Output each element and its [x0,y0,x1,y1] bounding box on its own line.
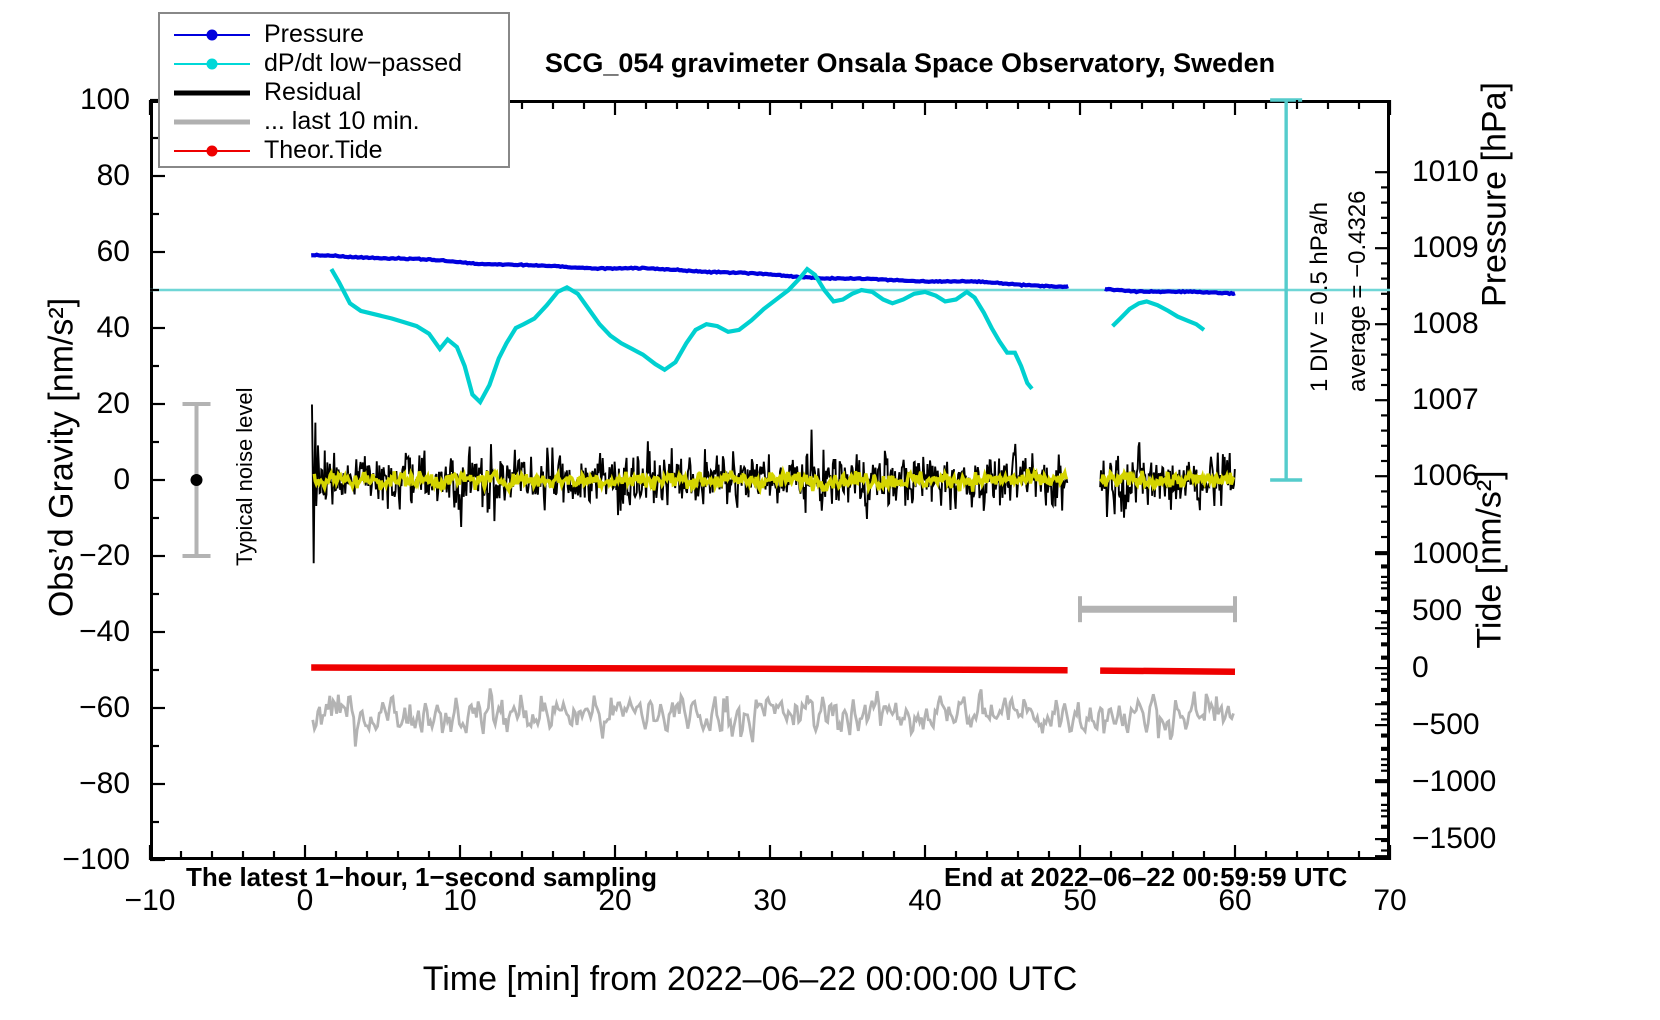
y-tick-label-left: −60 [30,691,130,725]
y-tick-label-tide: −500 [1412,708,1480,742]
annotation-typical-noise-level: Typical noise level [232,387,258,566]
legend-item: Theor.Tide [160,136,508,165]
data-overlay [150,100,1390,860]
legend-marker-dot [207,145,218,156]
y-tick-label-tide: 0 [1412,651,1429,685]
chart-title: SCG_054 gravimeter Onsala Space Observat… [430,48,1390,79]
footer-right-text: End at 2022–06–22 00:59:59 UTC [944,862,1347,893]
legend-item-label: Theor.Tide [264,138,383,163]
legend-item-label: ... last 10 min. [264,109,420,134]
x-tick-label: −10 [125,884,176,918]
y-tick-label-tide: −1000 [1412,765,1496,799]
legend-marker-dot [207,58,218,69]
legend-swatch-4 [174,141,250,161]
legend-swatch-2 [174,83,250,103]
y-tick-label-left: −100 [30,843,130,877]
y-tick-label-pressure: 1006 [1412,459,1479,493]
figure-canvas: SCG_054 gravimeter Onsala Space Observat… [0,0,1660,1020]
legend-item: ... last 10 min. [160,107,508,136]
y-tick-label-left: −40 [30,615,130,649]
legend-item-label: dP/dt low−passed [264,51,462,76]
legend-item-label: Pressure [264,22,364,47]
y-tick-label-pressure: 1007 [1412,383,1479,417]
legend-swatch-3 [174,112,250,132]
y-tick-label-pressure: 1009 [1412,231,1479,265]
legend-swatch-1 [174,54,250,74]
footer-left-text: The latest 1−hour, 1−second sampling [186,862,657,893]
legend-item: Pressure [160,20,508,49]
legend-swatch-0 [174,25,250,45]
annotation-dpdt-div: 1 DIV = 0.5 hPa/h [1306,202,1334,392]
y-tick-label-left: 0 [30,463,130,497]
y-tick-label-pressure: 1010 [1412,155,1479,189]
y-tick-label-pressure: 1008 [1412,307,1479,341]
y-tick-label-tide: −1500 [1412,822,1496,856]
y-tick-label-left: 40 [30,311,130,345]
y-tick-label-left: −80 [30,767,130,801]
y-tick-label-tide: 500 [1412,594,1462,628]
legend-marker-dot [207,29,218,40]
x-tick-label: 30 [753,884,786,918]
annotation-dpdt-average: average = −0.4326 [1344,190,1372,392]
x-axis-label: Time [min] from 2022–06–22 00:00:00 UTC [160,960,1340,999]
y-tick-label-left: 80 [30,159,130,193]
x-tick-label: 40 [908,884,941,918]
x-tick-label: 70 [1373,884,1406,918]
legend-item: Residual [160,78,508,107]
plot-area [150,100,1390,860]
y-tick-label-left: 100 [30,83,130,117]
legend-box: PressuredP/dt low−passedResidual... last… [158,12,510,168]
y-tick-label-left: 20 [30,387,130,421]
legend-item-label: Residual [264,80,361,105]
y-tick-label-left: −20 [30,539,130,573]
y-tick-label-tide: 1000 [1412,537,1479,571]
y-tick-label-left: 60 [30,235,130,269]
legend-item: dP/dt low−passed [160,49,508,78]
